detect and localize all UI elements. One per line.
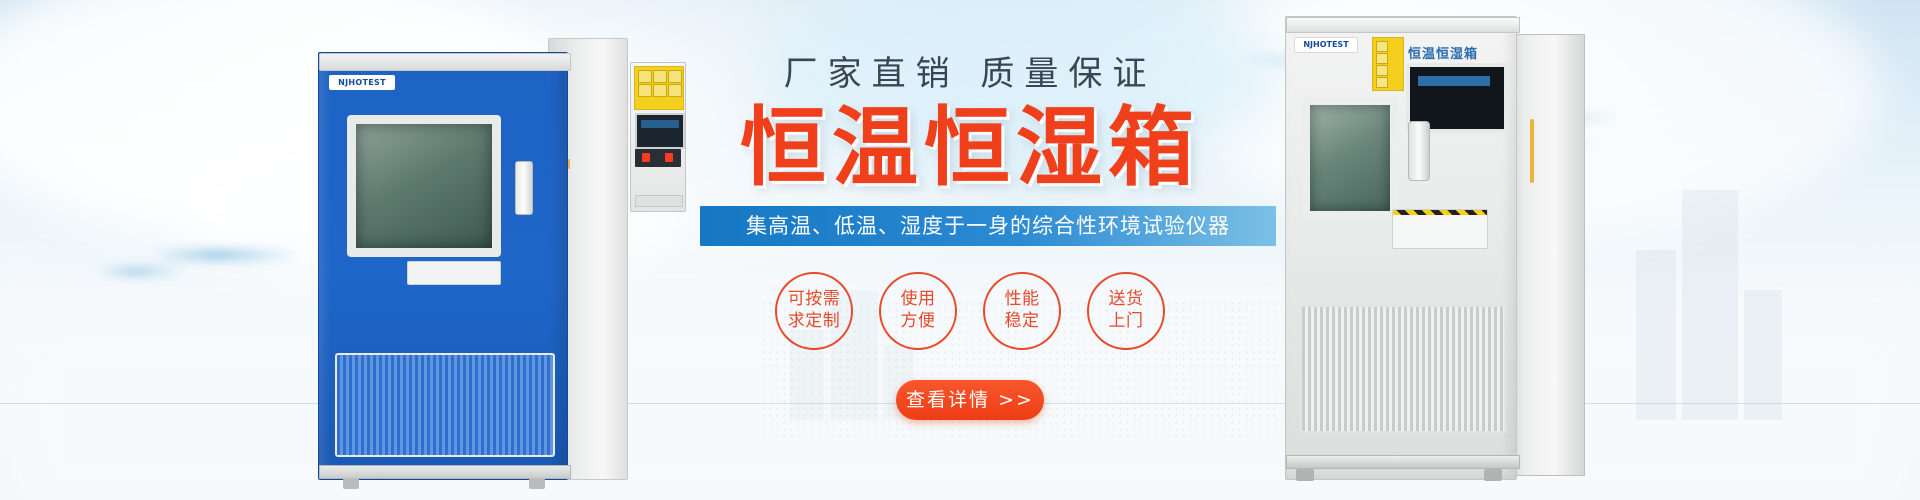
chamber-foot bbox=[1296, 469, 1314, 481]
skyline-building bbox=[1682, 190, 1738, 420]
feature-line-1: 送货 bbox=[1109, 289, 1144, 310]
feature-line-1: 可按需 bbox=[788, 289, 841, 310]
product-image-left-chamber: NJHOTEST bbox=[318, 38, 628, 490]
feature-badge-custom[interactable]: 可按需 求定制 bbox=[775, 272, 853, 350]
chamber-name-plate bbox=[407, 261, 501, 285]
warning-label-icon bbox=[634, 66, 684, 110]
chamber-base bbox=[1286, 455, 1520, 469]
feature-badge-stable[interactable]: 性能 稳定 bbox=[983, 272, 1061, 350]
chamber-body: NJHOTEST bbox=[318, 52, 568, 480]
chamber-foot bbox=[1484, 469, 1502, 481]
chamber-foot bbox=[343, 478, 359, 489]
chamber-base bbox=[319, 465, 571, 479]
banner-copy-block: 厂家直销 质量保证 恒温恒湿箱 集高温、低温、湿度于一身的综合性环境试验仪器 可… bbox=[700, 56, 1240, 420]
chamber-vent-grille bbox=[335, 353, 555, 457]
chamber-body: NJHOTEST 恒温恒湿箱 bbox=[1285, 16, 1517, 480]
banner-tagline: 厂家直销 质量保证 bbox=[700, 56, 1240, 93]
chamber-top-cap bbox=[319, 53, 571, 71]
warning-label-icon bbox=[1372, 37, 1404, 91]
chamber-vent-grille bbox=[1300, 305, 1506, 433]
chamber-viewing-window bbox=[1302, 97, 1398, 219]
feature-line-2: 上门 bbox=[1109, 311, 1144, 332]
feature-line-1: 性能 bbox=[1005, 289, 1040, 310]
banner-product-title: 恒温恒湿箱 bbox=[700, 103, 1240, 193]
chamber-viewing-window bbox=[347, 115, 501, 257]
feature-badge-list: 可按需 求定制 使用 方便 性能 稳定 送货 上门 bbox=[700, 272, 1240, 350]
skyline-building bbox=[1744, 290, 1782, 420]
chamber-control-panel bbox=[630, 62, 686, 212]
promo-banner: NJHOTEST NJHOTEST bbox=[0, 0, 1920, 500]
chamber-top-cap bbox=[1286, 17, 1520, 33]
skyline-building bbox=[1636, 250, 1676, 420]
brand-logo-right: NJHOTEST bbox=[1294, 37, 1358, 53]
banner-subtitle: 集高温、低温、湿度于一身的综合性环境试验仪器 bbox=[700, 206, 1276, 246]
feature-line-2: 求定制 bbox=[788, 311, 841, 332]
chamber-foot bbox=[529, 478, 545, 489]
product-image-right-chamber: NJHOTEST 恒温恒湿箱 bbox=[1285, 16, 1585, 494]
chamber-name-plate-right: 恒温恒湿箱 bbox=[1408, 43, 1478, 62]
feature-line-2: 方便 bbox=[901, 311, 936, 332]
feature-line-2: 稳定 bbox=[1005, 311, 1040, 332]
chamber-caution-plate bbox=[1392, 209, 1488, 249]
feature-line-1: 使用 bbox=[901, 289, 936, 310]
blue-streak bbox=[150, 250, 300, 260]
chamber-door-handle bbox=[1408, 121, 1430, 181]
blue-streak bbox=[95, 268, 185, 275]
view-details-button[interactable]: 查看详情 >> bbox=[896, 380, 1044, 420]
feature-badge-delivery[interactable]: 送货 上门 bbox=[1087, 272, 1165, 350]
controller-display bbox=[635, 113, 685, 149]
controller-indicator-leds bbox=[635, 149, 681, 167]
feature-badge-easy-use[interactable]: 使用 方便 bbox=[879, 272, 957, 350]
controller-label bbox=[635, 195, 683, 207]
brand-logo-left: NJHOTEST bbox=[329, 75, 395, 90]
chamber-door-handle bbox=[515, 161, 533, 215]
